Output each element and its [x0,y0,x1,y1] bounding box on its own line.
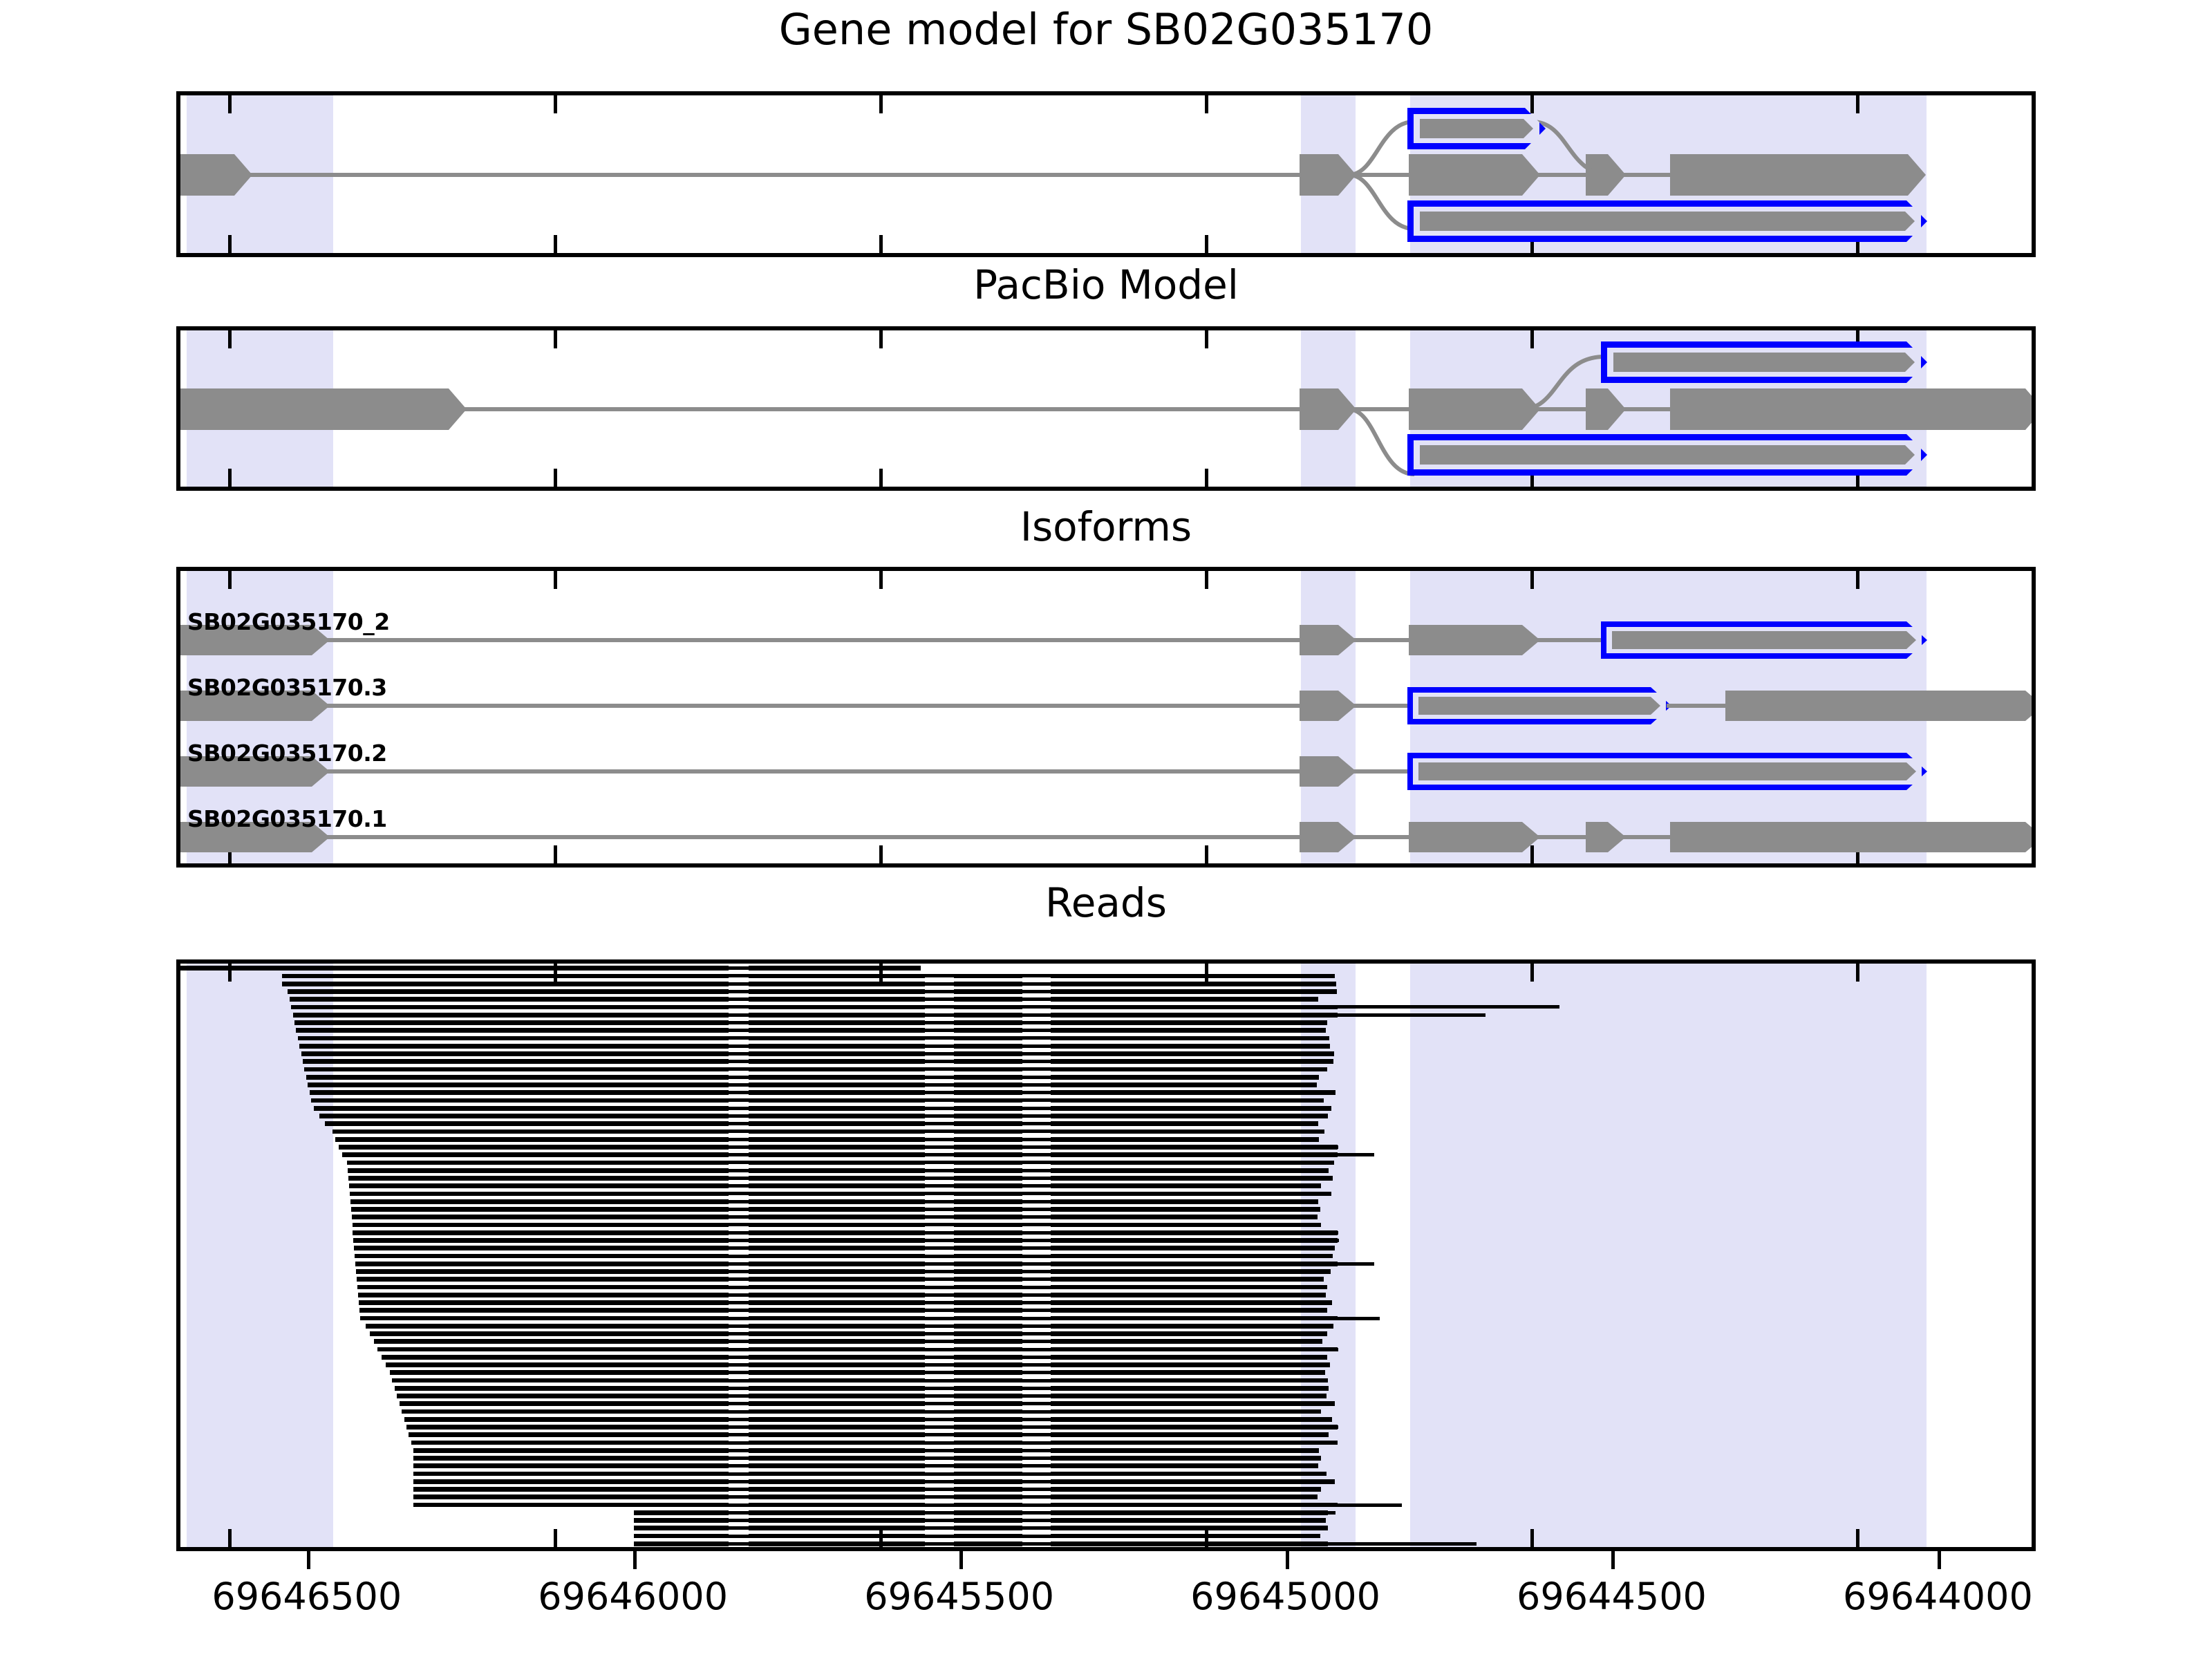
read-exon-block [634,1386,666,1391]
read-exon-block [634,1370,666,1375]
read-exon-block [1051,1020,1328,1025]
read-exon-block [634,1262,666,1266]
read-exon-block [749,1238,924,1243]
read-exon-block [634,997,666,1002]
read-exon-block [749,1401,924,1406]
read-exon-block [749,1044,924,1049]
axis-tick [1205,235,1208,253]
read-exon-block [1328,1013,1337,1018]
read-exon-block [954,1386,1022,1391]
read-exon-block [954,1137,1022,1142]
read-exon-block [360,1316,634,1321]
read-exon-block [749,1362,924,1367]
read-exon-block [666,1394,729,1398]
read-exon-block [954,1300,1022,1305]
read-exon-block [413,1503,634,1508]
read-exon-block [370,1331,634,1336]
read-exon-block [666,1463,729,1468]
read-exon-block [666,1020,729,1025]
read-exon-block [666,1137,729,1142]
read-exon-block [666,1067,729,1072]
read-exon-block [634,1277,666,1282]
read-exon-block [749,1370,924,1375]
read-exon-block [1328,1044,1329,1049]
read-exon-block [634,1425,666,1430]
x-axis-tick-label: 69646500 [212,1575,402,1618]
read-exon-block [954,1417,1022,1422]
read-exon-block [666,1518,729,1523]
read-exon-block [666,1176,729,1181]
read-exon-block [1328,1425,1337,1430]
read-exon-block [1328,1269,1330,1274]
read-exon-block [1328,1152,1337,1157]
read-exon-block [634,1534,666,1539]
read-exon-block [749,1277,924,1282]
axis-tick [1856,571,1859,589]
read-exon-block [749,1121,924,1126]
axis-tick [228,330,232,348]
read-exon-block [634,1487,666,1492]
read-exon-block [1051,1207,1320,1212]
x-axis-tick-label: 69644500 [1517,1575,1707,1618]
read-exon-block [954,1067,1022,1072]
read-exon-block [749,1082,924,1087]
read-exon-block [666,1417,729,1422]
read-exon-block [1051,1518,1326,1523]
axis-tick [228,95,232,113]
read-exon-block [1051,1098,1324,1103]
read-exon-block [749,1432,924,1437]
read-exon-block [749,1472,924,1477]
read-exon-block [954,1254,1022,1259]
read-exon-block [306,1075,634,1080]
read-exon-block [634,1378,666,1383]
read-exon-block [634,1401,666,1406]
axis-tick [879,330,883,348]
read-exon-block [1328,1401,1335,1406]
axis-tick [554,571,557,589]
read-exon-block [749,1394,924,1398]
read-exon-block [634,1394,666,1398]
read-exon-block [1328,1192,1331,1197]
read-exon-block [1051,1183,1321,1188]
read-exon-block [634,1355,666,1360]
read-exon-block [666,1378,729,1383]
read-exon-block [1328,1246,1334,1250]
read-exon-block [1051,1013,1329,1018]
read-exon-block [634,1137,666,1142]
read-exon-block [406,1425,634,1430]
read-exon-block [954,1362,1022,1367]
axis-tick [228,235,232,253]
read-exon-block [1051,1541,1329,1546]
read-exon-block [666,1425,729,1430]
read-exon-block [749,1526,924,1530]
read-exon-block [1051,1269,1329,1274]
exon-block [1409,822,1540,852]
read-exon-block [749,1230,924,1235]
read-exon-block [1051,1067,1328,1072]
figure-root: Gene model for SB02G035170 PacBio Model … [0,0,2212,1659]
read-exon-block [634,1409,666,1414]
read-exon-block [666,1347,729,1352]
read-exon-block [291,1005,634,1010]
isoform-label: SB02G035170.2 [187,740,387,767]
read-exon-block [954,1075,1022,1080]
read-exon-block [634,1176,666,1181]
read-exon-block [954,1005,1022,1010]
read-exon-block [749,974,924,979]
read-exon-block [749,1161,924,1165]
exon-block [1409,154,1540,196]
read-exon-block [954,1308,1022,1313]
read-exon-block [634,1168,666,1173]
read-exon-block [634,1300,666,1305]
read-exon-block [1328,1161,1334,1165]
read-exon-block [1051,1526,1328,1530]
read-exon-block [666,1036,729,1041]
read-exon-block [1328,1036,1329,1041]
read-exon-block [1051,1386,1329,1391]
read-exon-block [1328,982,1335,986]
read-exon-block [749,1176,924,1181]
read-exon-block [634,1223,666,1228]
axis-tick [1530,571,1534,589]
read-exon-block [634,1269,666,1274]
read-exon-block [954,1394,1022,1398]
read-exon-block [1051,1347,1329,1352]
axis-tick [228,469,232,487]
read-exon-block [666,1494,729,1499]
read-exon-block [666,1114,729,1118]
read-exon-block [634,1044,666,1049]
read-exon-block [666,1230,729,1235]
intron-line [180,704,1418,708]
read-exon-block [749,1098,924,1103]
read-exon-block [749,1199,924,1204]
read-exon-block [954,1161,1022,1165]
read-exon-block [634,974,666,979]
exon-block [1409,388,1540,430]
read-exon-block [1051,1316,1329,1321]
read-exon-block [350,1199,634,1204]
read-exon-block [666,1308,729,1313]
axis-tick [554,95,557,113]
read-exon-block [749,1106,924,1111]
x-axis-tick [1938,1551,1941,1569]
read-exon-block [666,1051,729,1056]
read-exon-block [1051,1051,1329,1056]
read-exon-block [1328,1254,1332,1259]
read-exon-block [1051,1479,1329,1484]
read-exon-block [356,1269,634,1274]
read-exon-block [954,1130,1022,1134]
read-exon-block [634,1441,666,1445]
read-exon-block [666,982,729,986]
read-exon-block [749,966,921,971]
axis-tick [1530,95,1534,113]
read-exon-block [954,1036,1022,1041]
read-exon-block [634,1347,666,1352]
read-exon-block [1051,1394,1327,1398]
axis-tick [1205,571,1208,589]
read-exon-block [954,1183,1022,1188]
read-exon-block [1051,1324,1329,1329]
read-exon-block [282,982,634,986]
read-exon-block [634,1526,666,1530]
read-exon-block [409,1432,634,1437]
read-exon-block [413,1487,634,1492]
read-exon-block [1051,1378,1328,1383]
read-exon-block [749,1223,924,1228]
exon-block [1409,625,1540,655]
read-exon-block [1051,1145,1329,1150]
read-exon-block [358,1293,634,1297]
read-exon-block [357,1277,634,1282]
read-exon-block [1328,1090,1335,1095]
read-exon-block [1328,1300,1331,1305]
read-exon-block [1051,974,1329,979]
read-exon-block [1051,1192,1329,1197]
read-exon-block [1051,1339,1322,1344]
read-exon-block [634,1463,666,1468]
read-exon-block [954,1510,1022,1515]
read-exon-block [1328,1324,1333,1329]
read-exon-block [1051,1044,1329,1049]
read-exon-block [749,1137,924,1142]
x-axis-rule [176,1547,2036,1551]
read-exon-block [666,1456,729,1461]
read-exon-block [1051,1114,1328,1118]
read-exon-block [634,1020,666,1025]
exon-block [1670,822,2036,852]
read-exon-block [666,1223,729,1228]
read-exon-block [1051,1370,1325,1375]
axis-tick [879,571,883,589]
read-exon-block [1051,1106,1329,1111]
read-exon-block [1051,1082,1318,1087]
exon-block [1670,154,1926,196]
x-axis-tick [307,1551,310,1569]
read-exon-block [666,1044,729,1049]
axis-tick [1205,330,1208,348]
axis-tick [879,469,883,487]
read-exon-block [666,1441,729,1445]
read-exon-block [1328,1005,1337,1010]
read-exon-block [634,1036,666,1041]
read-exon-block [954,1230,1022,1235]
read-exon-block [288,989,634,994]
read-exon-block [634,1293,666,1297]
read-exon-block [374,1339,635,1344]
read-exon-block [1051,1503,1329,1508]
read-exon-block [1051,1285,1327,1290]
read-exon-block [1051,1448,1319,1453]
read-exon-block [954,1199,1022,1204]
read-exon-block [1051,1456,1321,1461]
read-exon-block [749,1215,924,1219]
read-exon-block [634,1051,666,1056]
exon-block [1725,691,2036,721]
splice-junction [1532,115,1691,184]
read-exon-block [749,1152,924,1157]
read-exon-block [1051,1130,1325,1134]
read-exon-block [666,1386,729,1391]
read-exon-block [666,1503,729,1508]
read-exon-block [359,1300,634,1305]
read-exon-block [954,1355,1022,1360]
read-exon-block [954,1246,1022,1250]
x-axis-tick [959,1551,963,1569]
read-exon-block [954,1534,1022,1539]
intron-line [1667,704,1729,708]
read-exon-block [749,1503,924,1508]
read-exon-block [666,1526,729,1530]
read-exon-block [180,966,634,971]
read-exon-block [634,1246,666,1250]
read-exon-block [311,1098,634,1103]
read-exon-block [1051,1417,1329,1422]
read-exon-block [348,1168,634,1173]
read-exon-block [666,1432,729,1437]
read-exon-block [1328,1051,1333,1056]
read-exon-block [954,1401,1022,1406]
read-exon-block [634,1518,666,1523]
read-exon-block [954,1269,1022,1274]
read-exon-block [666,1161,729,1165]
read-exon-block [666,1324,729,1329]
read-exon-block [1051,1472,1327,1477]
read-exon-block [294,1020,634,1025]
read-exon-block [954,1215,1022,1219]
read-exon-block [1328,1059,1333,1064]
gene-model-axes [176,91,2036,257]
read-exon-block [335,1137,634,1142]
read-exon-block [1051,1262,1329,1266]
read-exon-block [1051,1425,1329,1430]
read-exon-block [1051,1331,1327,1336]
read-exon-block [634,1145,666,1150]
read-exon-block [353,1230,634,1235]
read-exon-block [954,1324,1022,1329]
read-exon-block [634,1005,666,1010]
read-exon-block [353,1238,634,1243]
read-exon-block [666,1541,729,1546]
x-axis-tick [1611,1551,1615,1569]
x-axis-tick-label: 69646000 [538,1575,728,1618]
read-exon-block [392,1378,634,1383]
read-exon-block [1051,982,1329,986]
read-exon-block [1051,1028,1326,1033]
read-exon-block [749,982,924,986]
read-exon-block [666,1152,729,1157]
read-exon-block [1051,1463,1319,1468]
exon-block [176,388,467,430]
read-exon-block [1051,1005,1329,1010]
read-exon-block [954,1082,1022,1087]
axis-tick [879,95,883,113]
read-exon-block [749,1005,924,1010]
axis-tick [554,235,557,253]
axis-tick [879,235,883,253]
read-exon-block [749,989,924,994]
reads-axes [176,959,2036,1551]
pacbio-model-axes [176,326,2036,491]
read-exon-block [749,1487,924,1492]
read-exon-block [954,1262,1022,1266]
read-exon-block [377,1347,634,1352]
read-exon-block [634,1059,666,1064]
read-exon-block [954,1441,1022,1445]
read-exon-block [666,1362,729,1367]
read-exon-block [749,1051,924,1056]
read-exon-block [1051,1168,1329,1173]
read-exon-block [666,1277,729,1282]
read-exon-block [954,1463,1022,1468]
read-exon-block [634,1183,666,1188]
read-exon-block [749,1510,924,1515]
read-exon-block [1051,1487,1322,1492]
read-exon-block [954,1192,1022,1197]
read-exon-block [954,1285,1022,1290]
x-axis-tick-label: 69645500 [864,1575,1054,1618]
read-exon-block [666,989,729,994]
read-exon-block [666,1269,729,1274]
read-exon-block [1051,1090,1329,1095]
read-exon-block [749,1075,924,1080]
read-exon-block [634,1161,666,1165]
read-exon-block [1328,989,1337,994]
read-exon-block [395,1386,635,1391]
read-exon-block [1328,1503,1337,1508]
read-exon-block [634,1114,666,1118]
intron-line [180,769,1418,774]
read-exon-block [749,1090,924,1095]
read-exon-block [749,1059,924,1064]
read-exon-block [634,1207,666,1212]
read-exon-block [349,1183,634,1188]
read-exon-block [666,1145,729,1150]
read-exon-block [1328,1441,1337,1445]
read-exon-block [634,1130,666,1134]
read-exon-block [749,1028,924,1033]
read-exon-block [634,1503,666,1508]
read-exon-block [666,974,729,979]
read-exon-block [666,1059,729,1064]
read-exon-block [749,1409,924,1414]
read-exon-block [634,982,666,986]
read-exon-block [1051,989,1329,994]
read-exon-block [404,1417,634,1422]
axis-tick [1205,845,1208,863]
read-exon-block [666,1192,729,1197]
read-exon-block [1328,1386,1329,1391]
read-exon-block [666,1262,729,1266]
read-exon-block [1051,1409,1322,1414]
axis-tick [554,330,557,348]
axis-tick [1530,845,1534,863]
read-exon-block [1328,1145,1337,1150]
read-exon-block [634,1308,666,1313]
read-exon-block [666,1168,729,1173]
read-exon-block [400,1401,635,1406]
read-exon-block [332,1130,635,1134]
read-exon-block [1051,1223,1322,1228]
read-exon-block [1051,1401,1329,1406]
read-exon-block [666,1207,729,1212]
read-exon-block [954,982,1022,986]
read-exon-block [954,1526,1022,1530]
